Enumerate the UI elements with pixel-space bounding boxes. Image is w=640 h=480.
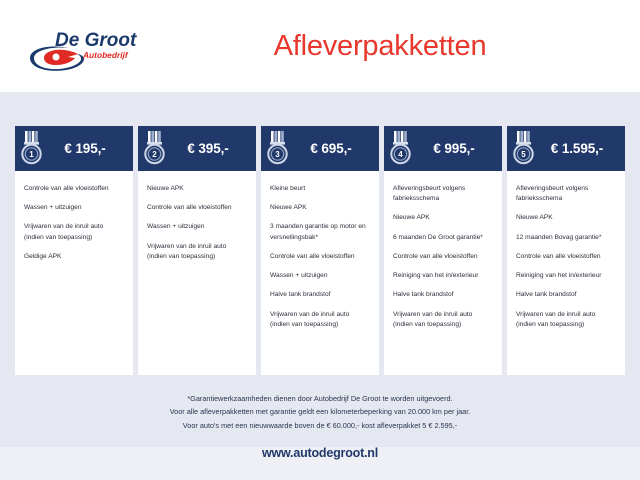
feature-item: Vrijwaren van de inruil auto (indien van… <box>270 310 370 330</box>
medal-number: 2 <box>152 150 157 159</box>
page-header: De Groot Autobedrijf Afleverpakketten <box>0 0 640 92</box>
package-header-1: 1 € 195,- <box>15 126 133 171</box>
package-cards: 1 € 195,- Controle van alle vloeistoffen… <box>15 126 625 375</box>
feature-item: Vrijwaren van de inruil auto (indien van… <box>393 310 493 330</box>
medal-icon: 5 <box>511 130 537 168</box>
feature-item: Wassen + uitzuigen <box>147 222 247 232</box>
package-header-3: 3 € 695,- <box>261 126 379 171</box>
feature-item: Controle van alle vloeistoffen <box>393 252 493 262</box>
package-card-2[interactable]: 2 € 395,- Nieuwe APK Controle van alle v… <box>138 126 256 375</box>
feature-item: Wassen + uitzuigen <box>270 271 370 281</box>
feature-item: Nieuwe APK <box>393 213 493 223</box>
package-card-1[interactable]: 1 € 195,- Controle van alle vloeistoffen… <box>15 126 133 375</box>
website-link[interactable]: www.autodegroot.nl <box>0 446 640 460</box>
package-price: € 695,- <box>291 141 373 156</box>
feature-item: Controle van alle vloeistoffen <box>24 184 124 194</box>
feature-item: Nieuwe APK <box>270 203 370 213</box>
package-features-3: Kleine beurt Nieuwe APK 3 maanden garant… <box>261 171 379 375</box>
medal-icon: 2 <box>142 130 168 168</box>
feature-item: Geldige APK <box>24 252 124 262</box>
medal-number: 4 <box>398 150 403 159</box>
feature-item: 6 maanden De Groot garantie* <box>393 233 493 243</box>
feature-item: Vrijwaren van de inruil auto (indien van… <box>147 242 247 262</box>
feature-item: Vrijwaren van de inruil auto (indien van… <box>24 222 124 242</box>
package-features-2: Nieuwe APK Controle van alle vloeistoffe… <box>138 171 256 375</box>
medal-icon: 3 <box>265 130 291 168</box>
footnote-line: Voor auto's met een nieuwwaarde boven de… <box>0 419 640 432</box>
package-card-3[interactable]: 3 € 695,- Kleine beurt Nieuwe APK 3 maan… <box>261 126 379 375</box>
feature-item: 3 maanden garantie op motor en versnelli… <box>270 222 370 242</box>
medal-icon: 1 <box>19 130 45 168</box>
medal-number: 3 <box>275 150 280 159</box>
feature-item: Halve tank brandstof <box>393 290 493 300</box>
page-title: Afleverpakketten <box>0 30 640 63</box>
feature-item: Halve tank brandstof <box>270 290 370 300</box>
package-header-5: 5 € 1.595,- <box>507 126 625 171</box>
footnote-line: Voor alle afleverpakketten met garantie … <box>0 405 640 418</box>
package-features-5: Afleveringsbeurt volgens fabrieksschema … <box>507 171 625 375</box>
footnotes: *Garantiewerkzaamheden dienen door Autob… <box>0 392 640 432</box>
package-price: € 395,- <box>168 141 250 156</box>
package-features-1: Controle van alle vloeistoffen Wassen + … <box>15 171 133 375</box>
feature-item: Vrijwaren van de inruil auto (indien van… <box>516 310 616 330</box>
package-header-4: 4 € 995,- <box>384 126 502 171</box>
feature-item: Nieuwe APK <box>147 184 247 194</box>
package-price: € 995,- <box>414 141 496 156</box>
package-price: € 195,- <box>45 141 127 156</box>
feature-item: Kleine beurt <box>270 184 370 194</box>
feature-item: Reiniging van het in/exterieur <box>516 271 616 281</box>
feature-item: Controle van alle vloeistoffen <box>270 252 370 262</box>
feature-item: Afleveringsbeurt volgens fabrieksschema <box>393 184 493 204</box>
medal-number: 5 <box>521 150 526 159</box>
feature-item: Controle van alle vloeistoffen <box>516 252 616 262</box>
medal-number: 1 <box>29 150 34 159</box>
feature-item: Halve tank brandstof <box>516 290 616 300</box>
feature-item: Nieuwe APK <box>516 213 616 223</box>
afleverpakketten-page: De Groot Autobedrijf Afleverpakketten <box>0 0 640 480</box>
feature-item: Afleveringsbeurt volgens fabrieksschema <box>516 184 616 204</box>
package-card-5[interactable]: 5 € 1.595,- Afleveringsbeurt volgens fab… <box>507 126 625 375</box>
feature-item: Wassen + uitzuigen <box>24 203 124 213</box>
package-features-4: Afleveringsbeurt volgens fabrieksschema … <box>384 171 502 375</box>
feature-item: Reiniging van het in/exterieur <box>393 271 493 281</box>
package-header-2: 2 € 395,- <box>138 126 256 171</box>
feature-item: Controle van alle vloeistoffen <box>147 203 247 213</box>
medal-icon: 4 <box>388 130 414 168</box>
package-card-4[interactable]: 4 € 995,- Afleveringsbeurt volgens fabri… <box>384 126 502 375</box>
footnote-line: *Garantiewerkzaamheden dienen door Autob… <box>0 392 640 405</box>
feature-item: 12 maanden Bovag garantie* <box>516 233 616 243</box>
package-price: € 1.595,- <box>537 141 619 156</box>
